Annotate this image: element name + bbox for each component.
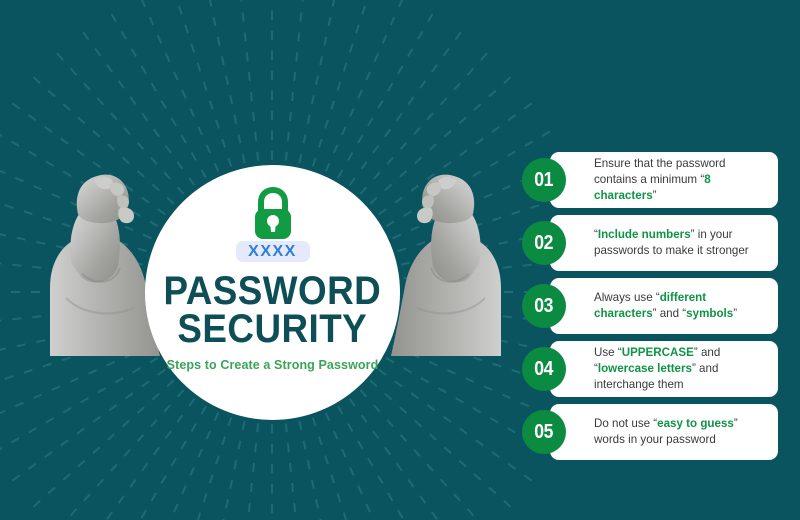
- step-highlight: symbols: [686, 307, 733, 320]
- title-line-2: SECURITY: [164, 311, 382, 349]
- step-text: Do not use “easy to guess” words in your…: [594, 416, 768, 448]
- step-number: 03: [535, 296, 554, 316]
- infographic-canvas: XXXX PASSWORD SECURITY Steps to Create a…: [0, 0, 800, 520]
- step-text: Use “UPPERCASE” and “lowercase letters” …: [594, 345, 768, 392]
- step-plain-text: Always use “: [594, 291, 660, 304]
- step-plain-text: Use “: [594, 346, 622, 359]
- password-mask-text: XXXX: [248, 244, 297, 260]
- step-number: 01: [535, 170, 554, 190]
- step-plain-text: Do not use “: [594, 417, 657, 430]
- password-mask-field: XXXX: [236, 241, 310, 262]
- step-number-badge: 01: [522, 158, 566, 202]
- step-number: 02: [535, 233, 554, 253]
- step-card[interactable]: “Include numbers” in your passwords to m…: [550, 215, 778, 271]
- step-card[interactable]: Always use “different characters” and “s…: [550, 278, 778, 334]
- step-number-badge: 05: [522, 410, 566, 454]
- step-number: 04: [535, 359, 554, 379]
- step-item: Always use “different characters” and “s…: [512, 278, 784, 334]
- step-item: “Include numbers” in your passwords to m…: [512, 215, 784, 271]
- step-highlight: easy to guess: [657, 417, 734, 430]
- padlock-icon: [247, 185, 299, 243]
- step-plain-text: ” and “: [653, 307, 687, 320]
- step-number-badge: 03: [522, 284, 566, 328]
- step-plain-text: ”: [653, 189, 657, 202]
- step-number-badge: 04: [522, 347, 566, 391]
- step-highlight: UPPERCASE: [622, 346, 694, 359]
- step-text: Always use “different characters” and “s…: [594, 290, 768, 322]
- step-text: Ensure that the password contains a mini…: [594, 156, 768, 203]
- step-card[interactable]: Do not use “easy to guess” words in your…: [550, 404, 778, 460]
- hero-circle: XXXX PASSWORD SECURITY Steps to Create a…: [145, 165, 400, 420]
- step-number-badge: 02: [522, 221, 566, 265]
- page-subtitle: Steps to Create a Strong Password: [167, 358, 379, 372]
- step-text: “Include numbers” in your passwords to m…: [594, 227, 768, 259]
- step-item: Use “UPPERCASE” and “lowercase letters” …: [512, 341, 784, 397]
- step-highlight: Include numbers: [598, 228, 691, 241]
- step-card[interactable]: Use “UPPERCASE” and “lowercase letters” …: [550, 341, 778, 397]
- page-title: PASSWORD SECURITY: [164, 273, 382, 348]
- step-plain-text: ”: [733, 307, 737, 320]
- step-number: 05: [535, 422, 554, 442]
- step-item: Ensure that the password contains a mini…: [512, 152, 784, 208]
- step-card[interactable]: Ensure that the password contains a mini…: [550, 152, 778, 208]
- steps-list: Ensure that the password contains a mini…: [512, 152, 784, 460]
- step-item: Do not use “easy to guess” words in your…: [512, 404, 784, 460]
- step-highlight: lowercase letters: [598, 362, 692, 375]
